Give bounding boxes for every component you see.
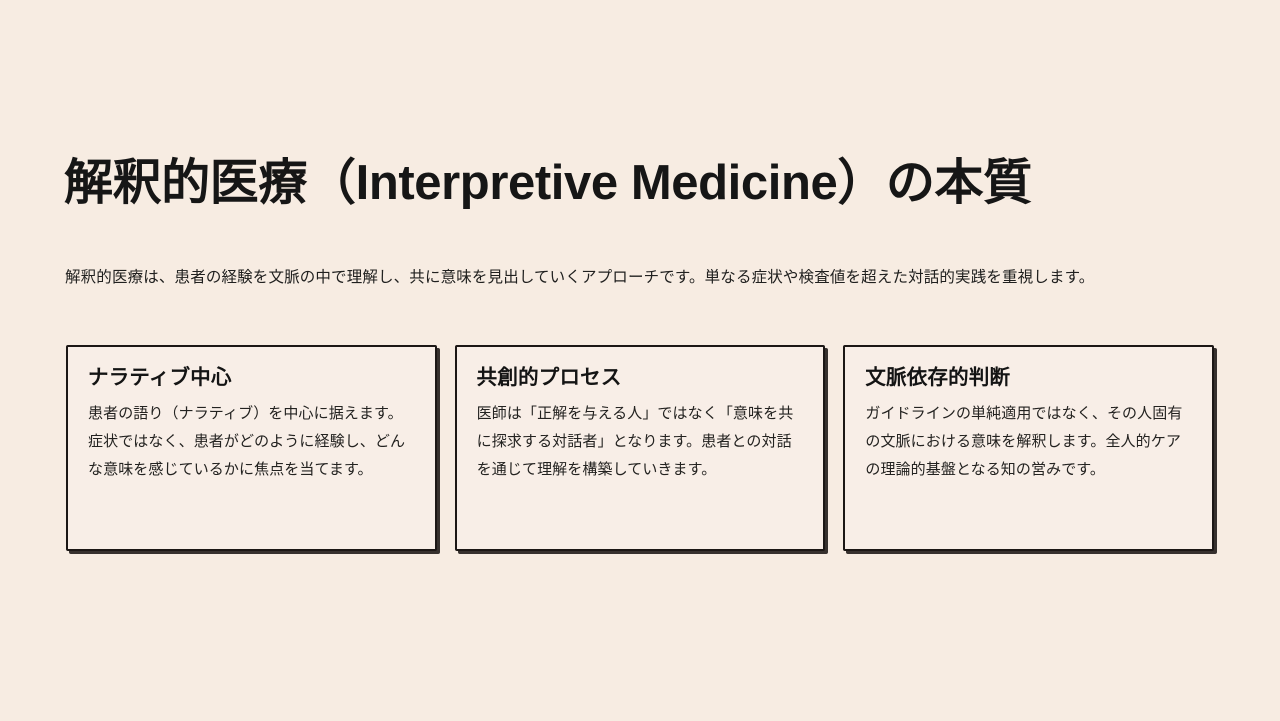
card-title: ナラティブ中心 bbox=[88, 365, 415, 391]
slide-root: 解釈的医療（Interpretive Medicine）の本質 解釈的医療は、患… bbox=[0, 0, 1280, 721]
card-body: 医師は「正解を与える人」ではなく「意味を共に探求する対話者」となります。患者との… bbox=[477, 400, 804, 484]
page-title: 解釈的医療（Interpretive Medicine）の本質 bbox=[64, 156, 1224, 211]
card-body: ガイドラインの単純適用ではなく、その人固有の文脈における意味を解釈します。全人的… bbox=[865, 400, 1192, 484]
card-list: ナラティブ中心 患者の語り（ナラティブ）を中心に据えます。症状ではなく、患者がど… bbox=[66, 345, 1214, 551]
card-body: 患者の語り（ナラティブ）を中心に据えます。症状ではなく、患者がどのように経験し、… bbox=[88, 400, 415, 484]
lead-paragraph: 解釈的医療は、患者の経験を文脈の中で理解し、共に意味を見出していくアプローチです… bbox=[65, 263, 1205, 292]
card-cocreative-process: 共創的プロセス 医師は「正解を与える人」ではなく「意味を共に探求する対話者」とな… bbox=[455, 345, 826, 551]
card-narrative-center: ナラティブ中心 患者の語り（ナラティブ）を中心に据えます。症状ではなく、患者がど… bbox=[66, 345, 437, 551]
card-title: 共創的プロセス bbox=[477, 365, 804, 391]
card-title: 文脈依存的判断 bbox=[865, 365, 1192, 391]
card-context-dependent-judgment: 文脈依存的判断 ガイドラインの単純適用ではなく、その人固有の文脈における意味を解… bbox=[843, 345, 1214, 551]
